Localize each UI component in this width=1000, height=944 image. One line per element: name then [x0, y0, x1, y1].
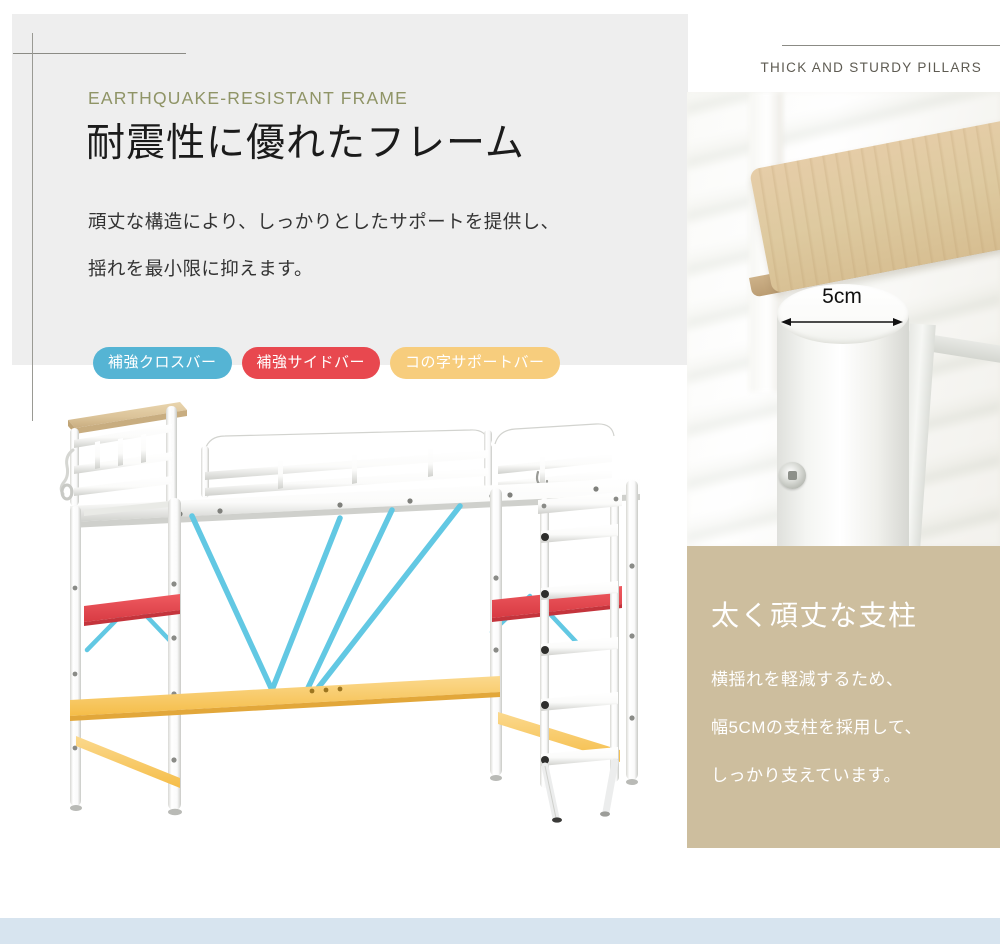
badge-u-support-bar[interactable]: コの字サポートバー — [390, 347, 560, 379]
loft-bed-illustration — [40, 388, 660, 828]
pillar-cylinder-body — [777, 314, 909, 546]
page-title: 耐震性に優れたフレーム — [86, 112, 525, 168]
pillar-body-line-1: 横揺れを軽減するため、 — [711, 656, 922, 704]
measurement-label: 5cm — [775, 285, 909, 309]
description-line-2: 揺れを最小限に抑えます。 — [88, 245, 559, 292]
caption-rule — [782, 45, 1000, 46]
description-line-1: 頑丈な構造により、しっかりとしたサポートを提供し、 — [88, 198, 559, 245]
badge-side-bar[interactable]: 補強サイドバー — [242, 347, 381, 379]
pillar-body-line-3: しっかり支えています。 — [711, 752, 922, 800]
pillar-panel-title: 太く頑丈な支柱 — [711, 594, 918, 634]
measurement-callout: 5cm — [775, 285, 909, 329]
u-shape-support-bar-group — [70, 676, 620, 788]
double-arrow-icon — [781, 317, 903, 327]
decorative-vertical-rule — [32, 33, 33, 421]
product-feature-page: EARTHQUAKE-RESISTANT FRAME 耐震性に優れたフレーム 頑… — [0, 0, 1000, 944]
feature-badge-group: 補強クロスバー 補強サイドバー コの字サポートバー — [93, 347, 560, 379]
pillar-body-line-2: 幅5CMの支柱を採用して、 — [711, 704, 922, 752]
decorative-horizontal-rule — [13, 53, 186, 54]
grey-background-panel — [12, 14, 688, 365]
eyebrow-text: EARTHQUAKE-RESISTANT FRAME — [88, 88, 408, 109]
bottom-accent-band — [0, 918, 1000, 944]
pillars-caption: THICK AND STURDY PILLARS — [761, 60, 983, 75]
pillar-screw — [779, 462, 806, 489]
bed-ladder — [538, 492, 622, 823]
pillar-panel-body: 横揺れを軽減するため、 幅5CMの支柱を採用して、 しっかり支えています。 — [711, 656, 922, 800]
pillar-photo: 5cm — [687, 92, 1000, 546]
badge-cross-bar[interactable]: 補強クロスバー — [93, 347, 232, 379]
description-text: 頑丈な構造により、しっかりとしたサポートを提供し、 揺れを最小限に抑えます。 — [88, 198, 559, 292]
pillar-info-panel: 太く頑丈な支柱 横揺れを軽減するため、 幅5CMの支柱を採用して、 しっかり支え… — [687, 546, 1000, 848]
